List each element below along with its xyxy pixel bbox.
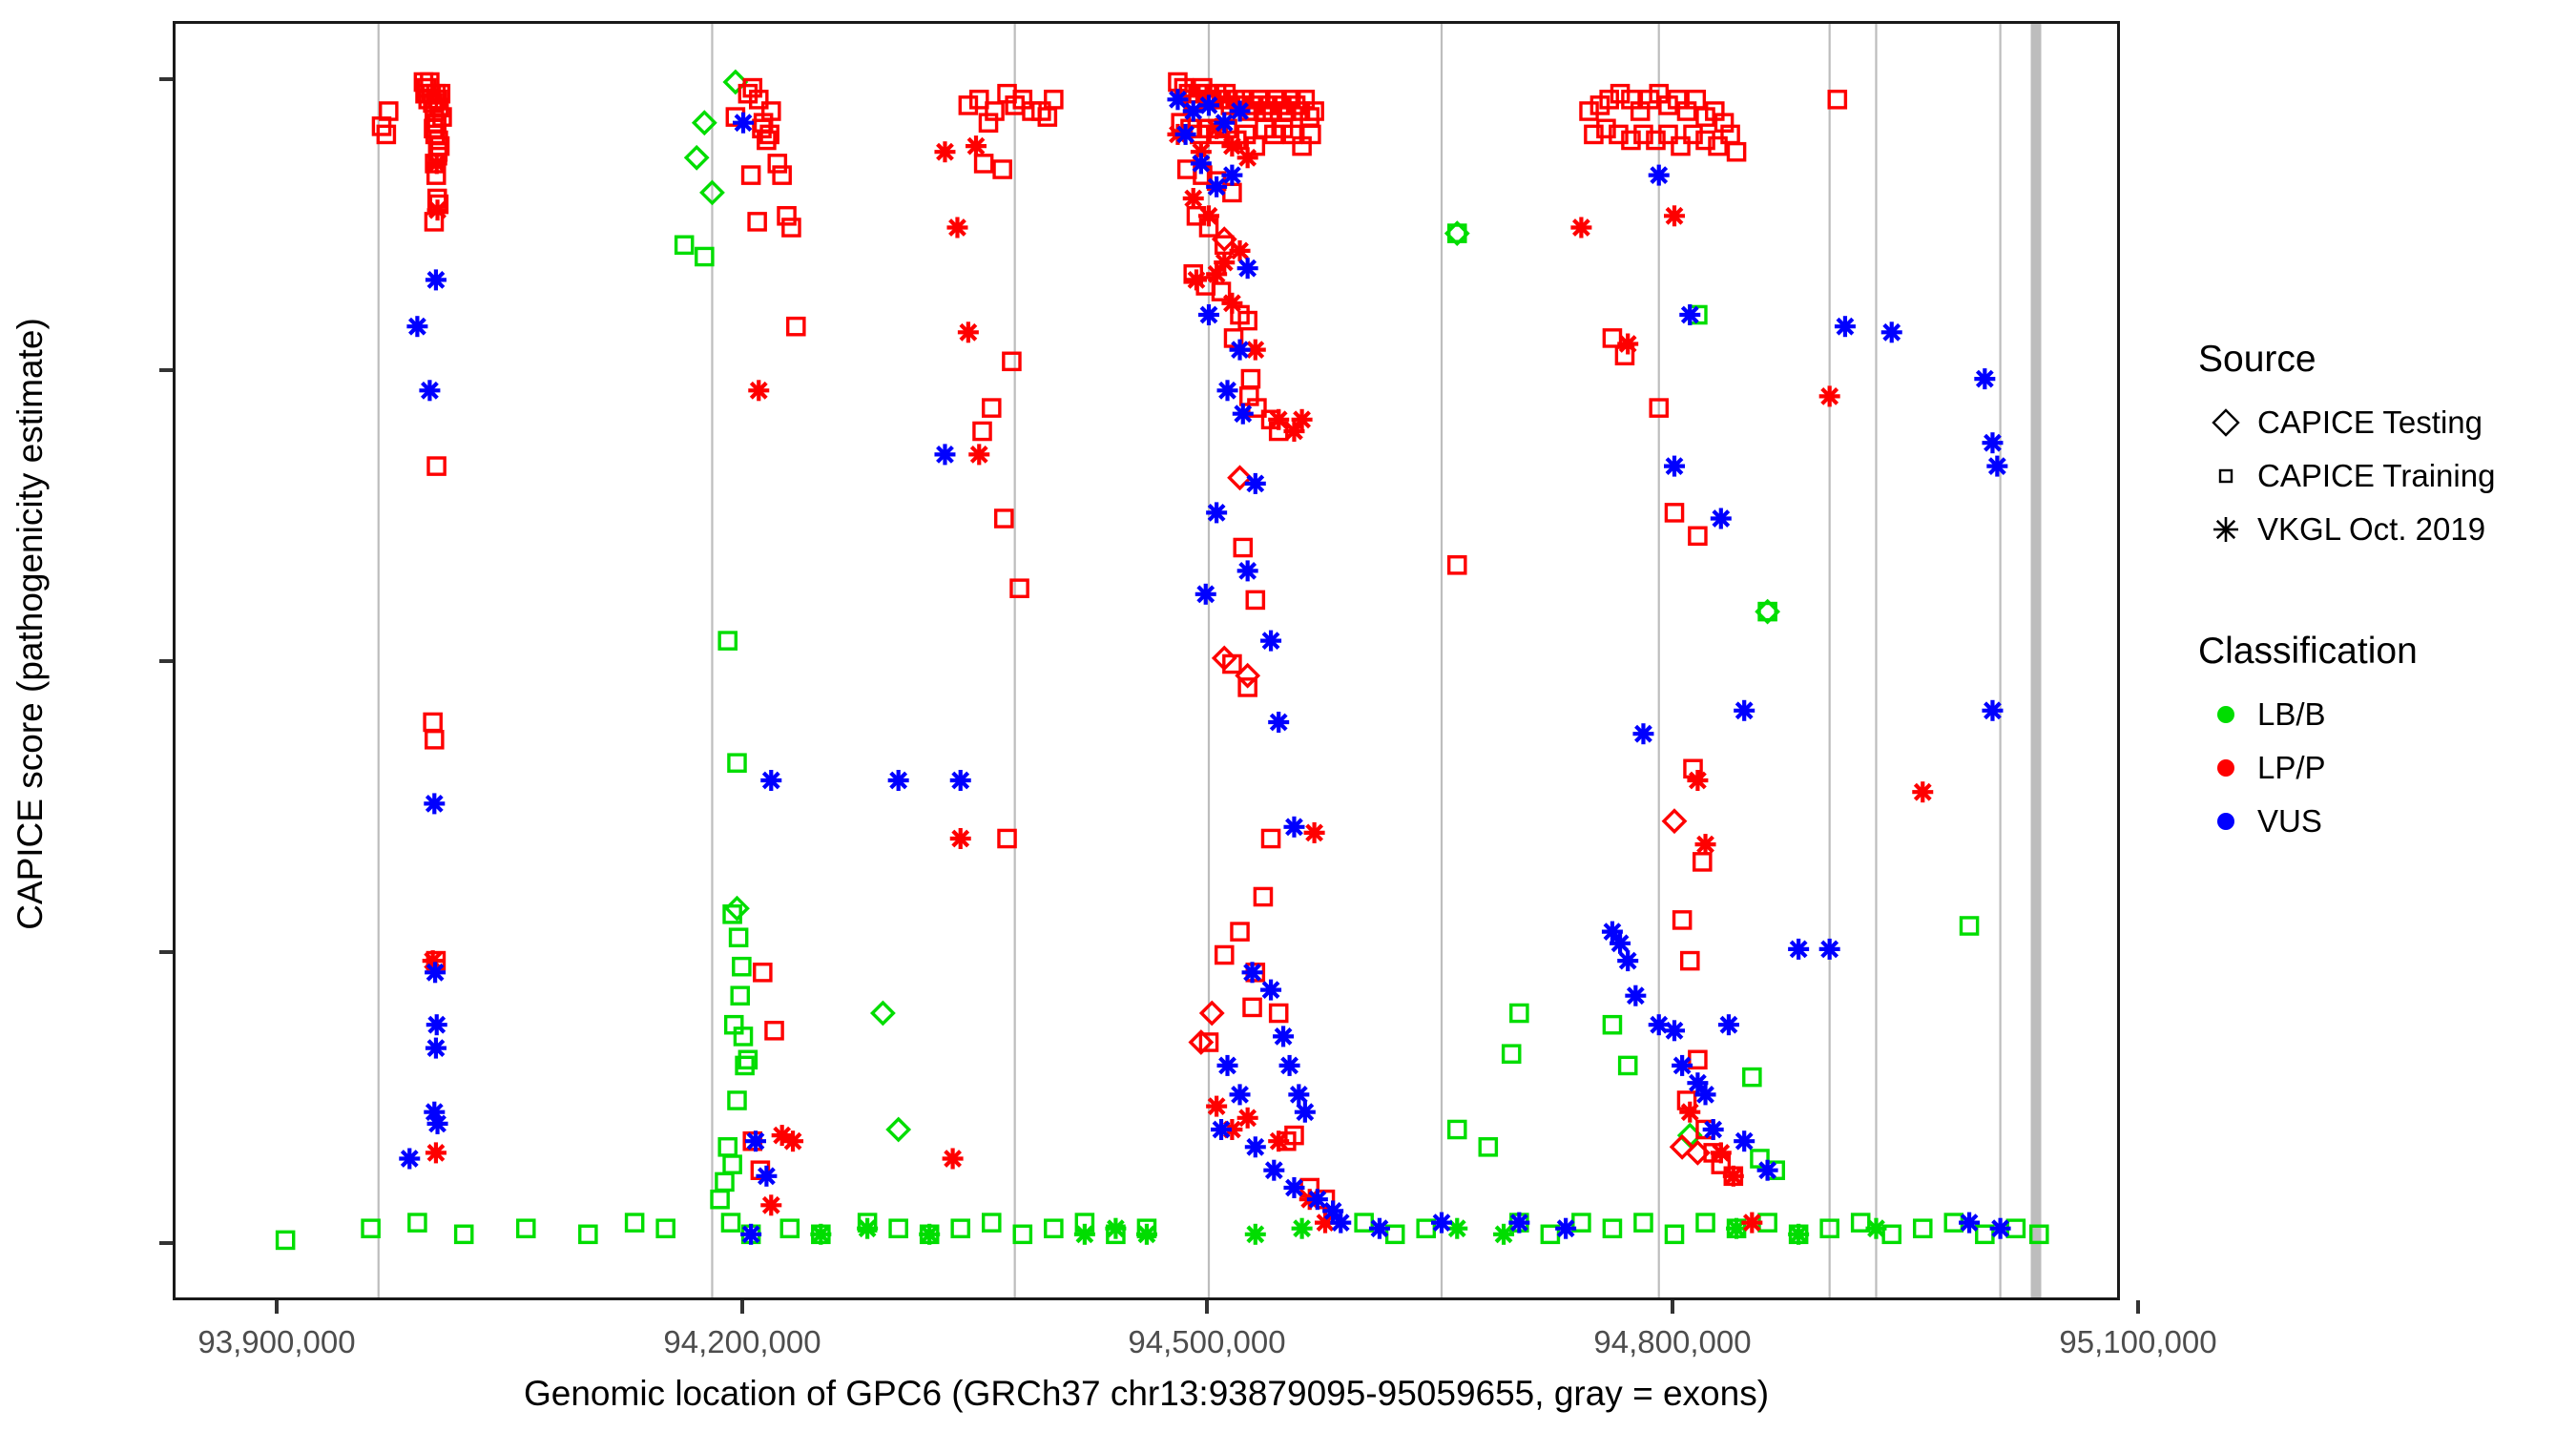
data-point-square xyxy=(1666,505,1682,521)
data-point-asterisk xyxy=(1632,723,1653,744)
data-point-square xyxy=(749,214,765,230)
data-point-square xyxy=(363,1220,379,1236)
data-point-asterisk xyxy=(950,828,971,849)
data-point-square xyxy=(999,830,1015,846)
data-point-asterisk xyxy=(1211,1119,1232,1140)
data-point-asterisk xyxy=(1679,304,1700,325)
data-point-asterisk xyxy=(1307,1189,1328,1210)
diamond-icon xyxy=(2194,406,2257,439)
data-point-asterisk xyxy=(427,199,448,220)
data-point-asterisk xyxy=(1198,94,1219,115)
data-point-square xyxy=(1666,1226,1682,1242)
data-point-asterisk xyxy=(1982,700,2003,721)
data-point-asterisk xyxy=(1649,165,1670,186)
data-point-asterisk xyxy=(1233,404,1254,425)
data-point-square xyxy=(980,114,996,131)
x-tick-mark-5 xyxy=(2136,1300,2140,1314)
data-point-square xyxy=(657,1220,674,1236)
data-point-square xyxy=(712,1192,728,1208)
legend-source-title: Source xyxy=(2198,339,2566,381)
legend-label-capice-training: CAPICE Training xyxy=(2257,458,2495,494)
data-point-square xyxy=(696,248,713,264)
legend-label-lbb: LB/B xyxy=(2257,696,2326,733)
y-tick-mark-4 xyxy=(159,950,173,954)
data-point-asterisk xyxy=(399,1149,420,1170)
data-point-square xyxy=(717,1173,733,1190)
data-point-asterisk xyxy=(1221,293,1242,314)
data-point-asterisk xyxy=(1245,1136,1266,1157)
x-tick-label-5: 95,100,000 xyxy=(1995,1324,2281,1360)
plot-panel xyxy=(173,21,2120,1300)
data-point-asterisk xyxy=(1664,205,1685,226)
data-point-asterisk xyxy=(934,141,955,162)
data-point-square xyxy=(1244,999,1260,1015)
legend-item-capice-testing[interactable]: CAPICE Testing xyxy=(2194,396,2566,449)
data-point-asterisk xyxy=(426,1038,447,1059)
chart-root: CAPICE score (pathogenicity estimate) 1.… xyxy=(0,0,2576,1431)
data-point-diamond xyxy=(1201,1003,1222,1024)
data-point-asterisk xyxy=(1865,1218,1886,1239)
data-point-square xyxy=(1232,923,1248,940)
data-point-square xyxy=(1170,73,1186,90)
data-point-asterisk xyxy=(1664,456,1685,477)
data-point-square xyxy=(1224,655,1240,672)
data-point-asterisk xyxy=(424,793,445,814)
data-point-square xyxy=(994,161,1010,177)
data-point-asterisk xyxy=(946,218,967,238)
y-axis-title: CAPICE score (pathogenicity estimate) xyxy=(10,147,51,1101)
data-point-asterisk xyxy=(1183,188,1204,209)
data-point-asterisk xyxy=(919,1224,940,1245)
data-point-square xyxy=(783,219,800,236)
data-point-asterisk xyxy=(1186,269,1207,290)
data-point-square xyxy=(984,1214,1000,1231)
data-point-asterisk xyxy=(1283,1177,1304,1198)
data-point-diamond xyxy=(872,1003,893,1024)
data-point-asterisk xyxy=(1206,176,1227,197)
data-point-asterisk xyxy=(1982,432,2003,453)
lpp-color-dot-icon xyxy=(2194,752,2257,784)
data-point-asterisk xyxy=(1292,409,1313,430)
data-point-asterisk xyxy=(1167,89,1188,110)
data-point-square xyxy=(676,237,693,253)
data-point-asterisk xyxy=(406,316,427,337)
data-point-asterisk xyxy=(1136,1224,1157,1245)
data-point-square xyxy=(1961,918,1977,934)
data-point-asterisk xyxy=(1664,1020,1685,1041)
data-point-asterisk xyxy=(426,1014,447,1035)
data-point-square xyxy=(732,987,748,1004)
data-point-asterisk xyxy=(934,444,955,465)
legend-classification-title: Classification xyxy=(2198,631,2566,673)
data-point-asterisk xyxy=(1195,584,1216,605)
data-point-asterisk xyxy=(1217,1055,1238,1076)
legend-spacer xyxy=(2194,556,2566,610)
data-point-square xyxy=(1046,1220,1062,1236)
data-point-square xyxy=(1611,86,1628,102)
data-point-asterisk xyxy=(1105,1218,1126,1239)
data-point-asterisk xyxy=(857,1218,878,1239)
data-point-asterisk xyxy=(748,380,769,401)
data-point-asterisk xyxy=(1237,147,1258,168)
data-point-asterisk xyxy=(1237,560,1258,581)
data-point-square xyxy=(456,1226,472,1242)
data-point-asterisk xyxy=(1263,1160,1284,1181)
x-tick-mark-3 xyxy=(1205,1300,1209,1314)
data-point-asterisk xyxy=(1206,263,1227,284)
data-point-square xyxy=(755,964,771,981)
legend-item-lbb[interactable]: LB/B xyxy=(2194,688,2566,741)
data-point-asterisk xyxy=(1260,631,1281,652)
data-point-asterisk xyxy=(1369,1218,1390,1239)
data-point-asterisk xyxy=(425,962,446,983)
data-point-asterisk xyxy=(1245,473,1266,494)
data-point-asterisk xyxy=(426,1142,447,1163)
data-point-asterisk xyxy=(1959,1213,1980,1234)
data-point-square xyxy=(996,510,1012,527)
data-point-square xyxy=(1635,1214,1652,1231)
data-point-square xyxy=(734,959,750,975)
data-point-square xyxy=(425,714,441,730)
data-point-diamond xyxy=(1664,811,1685,832)
data-point-asterisk xyxy=(1711,1142,1732,1163)
data-point-diamond xyxy=(888,1119,909,1140)
data-point-asterisk xyxy=(1279,1055,1300,1076)
data-point-square xyxy=(1690,528,1706,544)
data-point-asterisk xyxy=(1508,1213,1529,1234)
data-point-asterisk xyxy=(950,770,971,791)
data-point-square xyxy=(719,1139,736,1155)
data-point-square xyxy=(580,1226,596,1242)
data-point-asterisk xyxy=(1788,1224,1809,1245)
data-point-asterisk xyxy=(1431,1213,1452,1234)
data-point-asterisk xyxy=(810,1224,831,1245)
data-point-square xyxy=(779,208,795,224)
data-point-asterisk xyxy=(1237,1108,1258,1129)
data-point-asterisk xyxy=(1206,502,1227,523)
data-point-asterisk xyxy=(1711,508,1732,529)
data-point-asterisk xyxy=(1217,380,1238,401)
data-point-asterisk xyxy=(1221,135,1242,156)
data-point-asterisk xyxy=(1245,1224,1266,1245)
x-tick-mark-4 xyxy=(1671,1300,1674,1314)
data-point-asterisk xyxy=(740,1224,761,1245)
data-point-diamond xyxy=(726,898,747,919)
y-tick-mark-2 xyxy=(159,368,173,372)
data-point-asterisk xyxy=(1191,153,1212,174)
legend-label-lpp: LP/P xyxy=(2257,750,2326,786)
data-point-square xyxy=(426,732,443,748)
data-point-asterisk xyxy=(1230,340,1251,361)
data-point-square xyxy=(1697,1214,1714,1231)
data-point-asterisk xyxy=(1260,980,1281,1001)
data-point-asterisk xyxy=(1881,321,1902,342)
data-point-asterisk xyxy=(1687,770,1708,791)
data-point-asterisk xyxy=(966,135,987,156)
data-point-asterisk xyxy=(943,1149,964,1170)
data-point-asterisk xyxy=(1214,113,1235,134)
data-point-square xyxy=(722,1214,738,1231)
data-point-asterisk xyxy=(1718,1014,1739,1035)
data-point-square xyxy=(1581,103,1597,119)
data-point-square xyxy=(1011,580,1028,596)
square-icon xyxy=(2194,460,2257,492)
x-tick-label-1: 93,900,000 xyxy=(134,1324,420,1360)
data-point-square xyxy=(729,755,745,771)
data-point-square xyxy=(409,1214,426,1231)
data-point-square xyxy=(1449,557,1465,573)
data-point-square xyxy=(788,319,804,335)
lbb-color-dot-icon xyxy=(2194,698,2257,731)
data-point-asterisk xyxy=(1723,1166,1744,1187)
x-tick-label-3: 94,500,000 xyxy=(1064,1324,1350,1360)
data-point-asterisk xyxy=(1912,781,1933,802)
legend-item-capice-training[interactable]: CAPICE Training xyxy=(2194,449,2566,503)
asterisk-icon xyxy=(2194,513,2257,546)
legend-item-vus[interactable]: VUS xyxy=(2194,795,2566,848)
data-point-asterisk xyxy=(426,153,447,174)
data-point-asterisk xyxy=(427,1113,448,1134)
data-point-asterisk xyxy=(1741,1213,1762,1234)
data-point-asterisk xyxy=(745,1130,766,1151)
data-point-square xyxy=(1247,591,1263,608)
data-point-square xyxy=(769,156,785,172)
legend-label-vkgl: VKGL Oct. 2019 xyxy=(2257,511,2485,548)
data-point-square xyxy=(1511,1005,1527,1021)
data-point-asterisk xyxy=(1617,950,1638,971)
data-point-square xyxy=(774,167,790,183)
data-point-square xyxy=(518,1220,534,1236)
data-point-asterisk xyxy=(1835,316,1856,337)
data-point-asterisk xyxy=(1734,1130,1755,1151)
data-point-asterisk xyxy=(760,1194,781,1215)
data-point-asterisk xyxy=(1986,456,2007,477)
data-point-asterisk xyxy=(1230,1084,1251,1105)
x-tick-mark-1 xyxy=(275,1300,279,1314)
y-tick-mark-3 xyxy=(159,659,173,663)
data-point-square xyxy=(1255,888,1271,904)
y-tick-mark-1 xyxy=(159,77,173,81)
data-point-asterisk xyxy=(1221,165,1242,186)
data-point-asterisk xyxy=(1273,1026,1294,1047)
data-point-square xyxy=(1829,92,1845,108)
data-point-square xyxy=(976,156,992,172)
data-point-asterisk xyxy=(1819,385,1840,406)
data-point-asterisk xyxy=(1617,334,1638,355)
data-point-asterisk xyxy=(1206,1096,1227,1117)
x-tick-label-4: 94,800,000 xyxy=(1529,1324,1816,1360)
data-point-square xyxy=(1004,353,1020,369)
data-point-asterisk xyxy=(1990,1218,2011,1239)
data-point-asterisk xyxy=(419,380,440,401)
data-point-asterisk xyxy=(958,321,979,342)
data-point-asterisk xyxy=(1295,1102,1316,1123)
data-point-square xyxy=(729,1092,745,1109)
x-tick-label-2: 94,200,000 xyxy=(599,1324,885,1360)
data-point-asterisk xyxy=(1304,822,1325,843)
data-point-asterisk xyxy=(1695,1084,1716,1105)
data-point-square xyxy=(1744,1069,1760,1086)
data-point-square xyxy=(743,167,759,183)
data-point-square xyxy=(1262,830,1278,846)
data-point-asterisk xyxy=(756,1166,777,1187)
vus-color-dot-icon xyxy=(2194,805,2257,838)
x-axis-title: Genomic location of GPC6 (GRCh37 chr13:9… xyxy=(173,1374,2120,1414)
data-point-asterisk xyxy=(1268,409,1289,430)
data-point-asterisk xyxy=(968,444,989,465)
legend-item-vkgl[interactable]: VKGL Oct. 2019 xyxy=(2194,503,2566,556)
data-point-asterisk xyxy=(782,1130,803,1151)
data-point-square xyxy=(1014,1226,1030,1242)
data-point-square xyxy=(428,458,445,474)
data-point-asterisk xyxy=(1703,1119,1724,1140)
data-point-asterisk xyxy=(1734,700,1755,721)
data-point-square xyxy=(1480,1139,1496,1155)
data-point-square xyxy=(890,1220,906,1236)
data-point-square xyxy=(278,1232,294,1248)
data-point-asterisk xyxy=(1672,1055,1693,1076)
data-point-asterisk xyxy=(1074,1224,1095,1245)
data-point-square xyxy=(1620,1057,1636,1073)
legend-label-vus: VUS xyxy=(2257,803,2322,840)
legend-item-lpp[interactable]: LP/P xyxy=(2194,741,2566,795)
data-point-asterisk xyxy=(1283,817,1304,838)
data-point-square xyxy=(974,423,990,439)
data-point-asterisk xyxy=(1819,939,1840,960)
data-point-asterisk xyxy=(1230,101,1251,122)
data-point-asterisk xyxy=(1757,1160,1778,1181)
data-point-square xyxy=(1674,912,1691,928)
data-point-asterisk xyxy=(1679,1102,1700,1123)
data-point-asterisk xyxy=(1237,258,1258,279)
data-point-square xyxy=(781,1220,798,1236)
data-point-asterisk xyxy=(1268,1130,1289,1151)
data-point-square xyxy=(952,1220,968,1236)
data-point-square xyxy=(1235,539,1251,555)
data-point-square xyxy=(1728,144,1744,160)
data-point-asterisk xyxy=(1198,205,1219,226)
data-point-asterisk xyxy=(760,770,781,791)
data-point-asterisk xyxy=(1788,939,1809,960)
data-point-square xyxy=(1449,1121,1465,1137)
data-point-diamond xyxy=(686,147,707,168)
data-point-asterisk xyxy=(1695,834,1716,855)
data-point-square xyxy=(1915,1220,1931,1236)
data-point-square xyxy=(719,633,736,649)
data-point-square xyxy=(724,1156,740,1172)
data-point-square xyxy=(1682,953,1698,969)
data-point-asterisk xyxy=(1625,985,1646,1006)
data-point-asterisk xyxy=(426,269,447,290)
data-point-square xyxy=(1604,1220,1620,1236)
data-point-asterisk xyxy=(1974,368,1995,389)
scatter-plot-canvas xyxy=(176,24,2117,1297)
data-point-square xyxy=(731,929,747,945)
data-point-square xyxy=(1242,371,1258,387)
data-point-asterisk xyxy=(1242,962,1263,983)
data-point-asterisk xyxy=(1555,1218,1576,1239)
data-point-square xyxy=(984,400,1000,416)
data-point-square xyxy=(1604,1017,1620,1033)
data-point-asterisk xyxy=(1268,712,1289,733)
data-point-asterisk xyxy=(1493,1224,1514,1245)
data-point-square xyxy=(960,97,976,114)
data-point-square xyxy=(766,1023,782,1039)
data-point-asterisk xyxy=(1175,124,1196,145)
legend-label-capice-testing: CAPICE Testing xyxy=(2257,404,2483,441)
data-point-asterisk xyxy=(1570,218,1591,238)
data-point-asterisk xyxy=(1198,304,1219,325)
data-point-asterisk xyxy=(733,113,754,134)
y-tick-mark-5 xyxy=(159,1241,173,1245)
data-point-asterisk xyxy=(888,770,909,791)
legend: Source CAPICE Testing CAPICE Training xyxy=(2194,339,2566,848)
data-point-asterisk xyxy=(1330,1213,1351,1234)
data-point-square xyxy=(627,1214,643,1231)
data-point-asterisk xyxy=(1292,1218,1313,1239)
x-tick-mark-2 xyxy=(740,1300,744,1314)
data-point-square xyxy=(1694,854,1711,870)
data-point-square xyxy=(1504,1046,1520,1062)
data-point-square xyxy=(1271,1005,1287,1021)
data-point-square xyxy=(1216,946,1233,963)
